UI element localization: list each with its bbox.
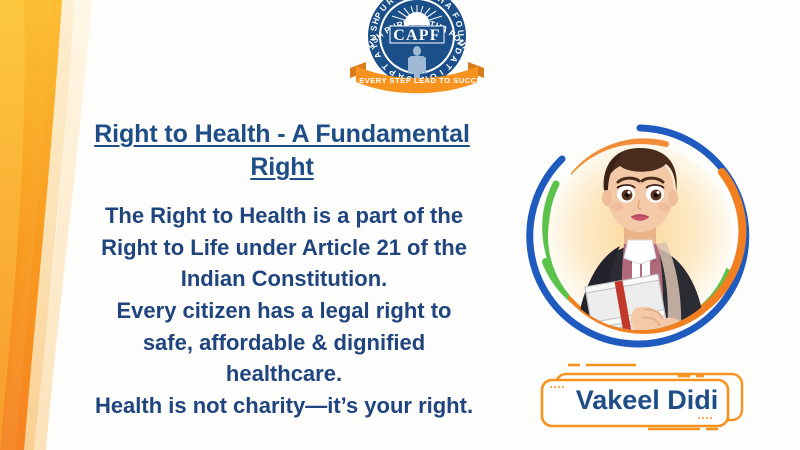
slide-canvas: CAPT AYUSH PURUSARTHA FOUNDATION P U R U…	[0, 0, 800, 450]
body-line: The Right to Health is a part of the	[58, 200, 510, 232]
body-line: safe, affordable & dignified	[58, 327, 510, 359]
capf-logo: CAPT AYUSH PURUSARTHA FOUNDATION P U R U…	[332, 0, 502, 104]
body-line: healthcare.	[58, 358, 510, 390]
logo-center-text: CAPF	[393, 27, 440, 44]
body-line: Right to Life under Article 21 of the	[58, 232, 510, 264]
page-title: Right to Health - A Fundamental Right	[58, 118, 506, 184]
body-line: Every citizen has a legal right to	[58, 295, 510, 327]
page-title-line1: Right to Health - A Fundamental	[94, 120, 470, 148]
page-title-line2: Right	[250, 153, 313, 181]
vakeel-didi-illustration	[516, 112, 764, 360]
logo-ribbon-text: LET EVERY STEP LEAD TO SUCCESS	[341, 76, 494, 85]
svg-text:U: U	[456, 30, 466, 37]
svg-text:U: U	[368, 34, 378, 40]
status-badge: Vakeel Didi	[528, 360, 760, 432]
body-copy: The Right to Health is a part of the Rig…	[58, 200, 510, 422]
body-line: Health is not charity—it’s your right.	[58, 390, 510, 422]
body-line: Indian Constitution.	[58, 263, 510, 295]
